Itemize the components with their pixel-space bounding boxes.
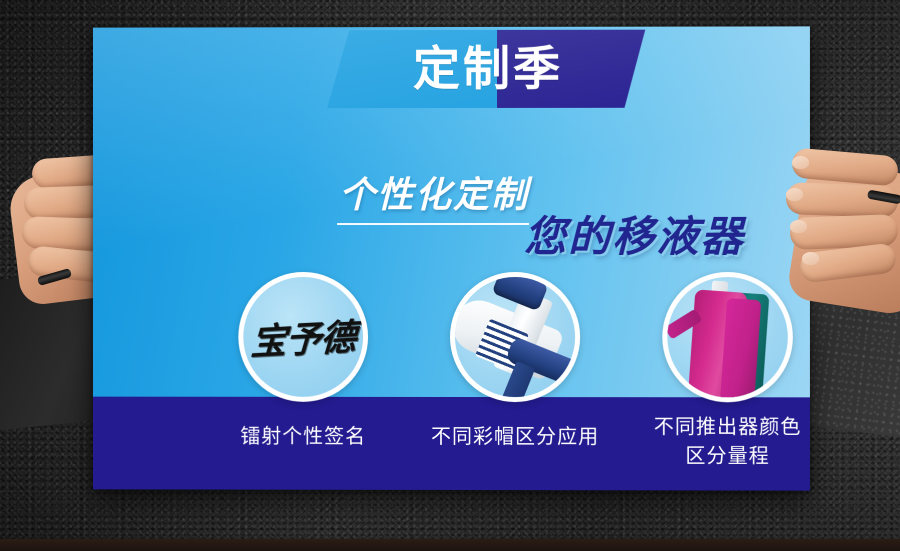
scene: 定制季 个性化定制 您的移液器 宝予德: [0, 0, 900, 551]
right-hand: [752, 146, 900, 346]
feature-3-caption-line-2: 区分量程: [592, 441, 810, 470]
right-nail-middle: [786, 188, 803, 201]
poster: 定制季 个性化定制 您的移液器 宝予德: [93, 26, 810, 490]
feature-2-circle: [450, 272, 580, 402]
poster-title: 定制季: [327, 30, 645, 108]
right-nail-index: [792, 156, 809, 169]
feature-1-circle: 宝予德: [238, 272, 368, 402]
feature-3-caption-line-1: 不同推出器颜色: [592, 412, 810, 441]
calligraphy-signature-icon: 宝予德: [240, 274, 366, 401]
headline-line-2: 您的移液器: [524, 215, 745, 259]
floor-strip: [0, 539, 900, 551]
right-nail-pinky: [802, 252, 819, 265]
title-banner: 定制季: [327, 30, 645, 108]
feature-3-caption: 不同推出器颜色 区分量程: [592, 412, 810, 470]
pipette-top-illustration: [455, 277, 575, 397]
headline-underline: [337, 223, 529, 225]
headline-line-1: 个性化定制: [339, 177, 529, 215]
right-nail-ring: [790, 220, 807, 233]
